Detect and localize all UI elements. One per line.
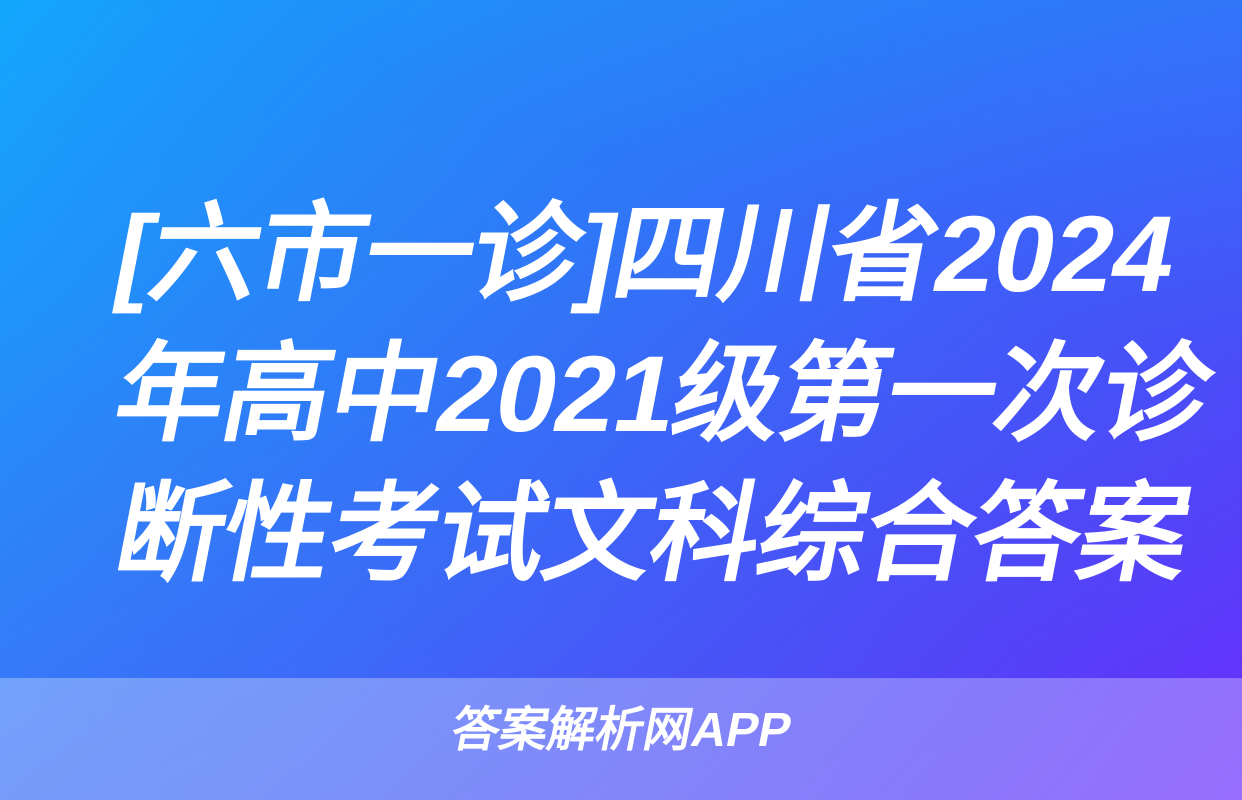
headline-line-2: 年高中2021级第一次诊: [104, 324, 1171, 464]
app-watermark: 答案解析网APP: [0, 702, 1242, 760]
headline-line-1: [六市一诊]四川省2024: [104, 184, 1171, 324]
app-watermark-label: 答案解析网APP: [446, 702, 796, 760]
page-title: [六市一诊]四川省2024 年高中2021级第一次诊 断性考试文科综合答案: [104, 184, 1144, 604]
poster-canvas: [六市一诊]四川省2024 年高中2021级第一次诊 断性考试文科综合答案 答案…: [0, 0, 1242, 800]
headline-line-3: 断性考试文科综合答案: [104, 464, 1171, 604]
